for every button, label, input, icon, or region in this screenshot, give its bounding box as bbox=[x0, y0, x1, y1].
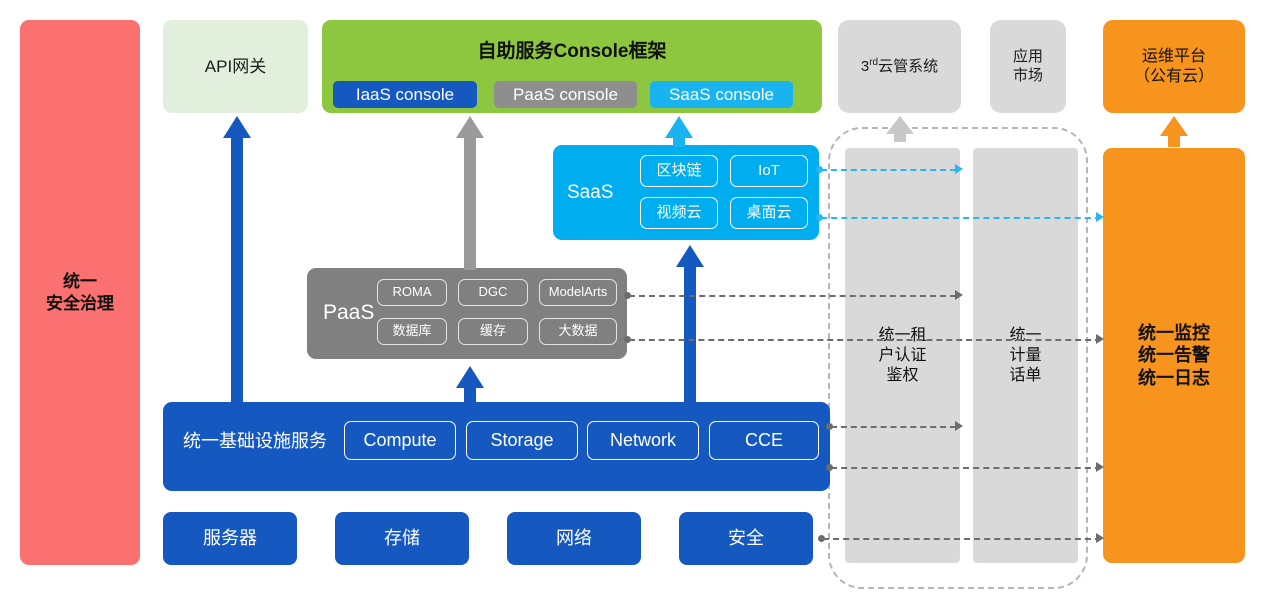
connector-paas-to-monitoring bbox=[629, 339, 1101, 341]
connector-hardware-to-monitoring bbox=[823, 538, 1101, 540]
app-market-box[interactable]: 应用 市场 bbox=[990, 20, 1066, 113]
connector-saas-to-auth bbox=[821, 169, 956, 171]
saas-item-iot-label: IoT bbox=[758, 162, 780, 181]
ops-platform-label: 运维平台 （公有云） bbox=[1134, 47, 1214, 87]
infra-item-network-label: Network bbox=[610, 429, 676, 452]
infra-item-storage[interactable]: Storage bbox=[466, 421, 578, 460]
iaas-console-label: IaaS console bbox=[356, 84, 454, 105]
hardware-network-label: 网络 bbox=[556, 527, 592, 550]
arrow-paas-to-console bbox=[455, 116, 485, 270]
arrow-shared-to-third-party bbox=[885, 116, 915, 142]
third-party-cloud-mgmt-label: 3rd云管系统 bbox=[861, 57, 938, 77]
hardware-server-box[interactable]: 服务器 bbox=[163, 512, 297, 565]
connector-infra-to-auth bbox=[831, 426, 956, 428]
infra-item-storage-label: Storage bbox=[490, 429, 553, 452]
iaas-console-chip[interactable]: IaaS console bbox=[333, 81, 477, 108]
saas-console-chip[interactable]: SaaS console bbox=[650, 81, 793, 108]
infra-item-compute[interactable]: Compute bbox=[344, 421, 456, 460]
unified-security-governance-panel[interactable]: 统一 安全治理 bbox=[20, 20, 140, 565]
paas-item-bigdata-label: 大数据 bbox=[558, 323, 597, 339]
connector-paas-to-auth bbox=[629, 295, 956, 297]
paas-item-dgc[interactable]: DGC bbox=[458, 279, 528, 306]
connector-infra-to-monitoring bbox=[831, 467, 1101, 469]
architecture-diagram: 统一 安全治理 API网关 自助服务Console框架 IaaS console… bbox=[0, 0, 1265, 605]
api-gateway-box[interactable]: API网关 bbox=[163, 20, 308, 113]
paas-item-database[interactable]: 数据库 bbox=[377, 318, 447, 345]
connector-arrowhead bbox=[1096, 212, 1104, 222]
console-frame-title: 自助服务Console框架 bbox=[322, 40, 822, 64]
paas-block[interactable]: PaaS ROMA DGC ModelArts 数据库 缓存 大数据 bbox=[307, 268, 627, 359]
third-party-cloud-mgmt-box[interactable]: 3rd云管系统 bbox=[838, 20, 961, 113]
connector-arrowhead bbox=[1096, 334, 1104, 344]
hardware-security-label: 安全 bbox=[728, 527, 764, 550]
infra-item-cce[interactable]: CCE bbox=[709, 421, 819, 460]
hardware-network-box[interactable]: 网络 bbox=[507, 512, 641, 565]
connector-arrowhead bbox=[955, 164, 963, 174]
paas-item-cache[interactable]: 缓存 bbox=[458, 318, 528, 345]
unified-tenant-auth-column[interactable]: 统一租 户认证 鉴权 bbox=[845, 148, 960, 563]
arrow-infra-to-saas bbox=[675, 245, 705, 404]
unified-monitoring-label: 统一监控 统一告警 统一日志 bbox=[1138, 322, 1210, 390]
unified-monitoring-column[interactable]: 统一监控 统一告警 统一日志 bbox=[1103, 148, 1245, 563]
saas-item-video-cloud[interactable]: 视频云 bbox=[640, 197, 718, 229]
connector-arrowhead bbox=[955, 421, 963, 431]
saas-item-iot[interactable]: IoT bbox=[730, 155, 808, 187]
paas-item-database-label: 数据库 bbox=[392, 323, 431, 339]
infra-item-network[interactable]: Network bbox=[587, 421, 699, 460]
saas-item-desktop-cloud[interactable]: 桌面云 bbox=[730, 197, 808, 229]
arrow-saas-to-saas-console bbox=[664, 116, 694, 147]
arrow-infra-to-paas bbox=[455, 366, 485, 404]
connector-arrowhead bbox=[1096, 462, 1104, 472]
saas-item-blockchain-label: 区块链 bbox=[656, 162, 701, 181]
paas-console-chip[interactable]: PaaS console bbox=[494, 81, 637, 108]
self-service-console-frame[interactable]: 自助服务Console框架 IaaS console PaaS console … bbox=[322, 20, 822, 113]
unified-metering-billing-label: 统一 计量 话单 bbox=[1009, 326, 1041, 386]
infra-item-compute-label: Compute bbox=[363, 429, 436, 452]
app-market-label: 应用 市场 bbox=[1013, 48, 1043, 86]
hardware-storage-label: 存储 bbox=[384, 527, 420, 550]
arrow-infra-to-api-gateway bbox=[222, 116, 252, 404]
unified-security-governance-label: 统一 安全治理 bbox=[46, 271, 114, 314]
saas-block[interactable]: SaaS 区块链 IoT 视频云 桌面云 bbox=[553, 145, 819, 240]
saas-item-desktop-cloud-label: 桌面云 bbox=[746, 204, 791, 223]
connector-saas-to-monitoring bbox=[821, 217, 1101, 219]
paas-item-modelarts[interactable]: ModelArts bbox=[539, 279, 617, 306]
paas-console-label: PaaS console bbox=[513, 84, 618, 105]
paas-item-bigdata[interactable]: 大数据 bbox=[539, 318, 617, 345]
paas-item-dgc-label: DGC bbox=[479, 284, 508, 300]
connector-arrowhead bbox=[955, 290, 963, 300]
paas-item-roma[interactable]: ROMA bbox=[377, 279, 447, 306]
api-gateway-label: API网关 bbox=[205, 56, 266, 77]
unified-metering-billing-column[interactable]: 统一 计量 话单 bbox=[973, 148, 1078, 563]
unified-infrastructure-service-bar[interactable]: 统一基础设施服务 Compute Storage Network CCE bbox=[163, 402, 830, 491]
connector-arrowhead bbox=[1096, 533, 1104, 543]
paas-block-label: PaaS bbox=[323, 300, 374, 326]
paas-item-cache-label: 缓存 bbox=[480, 323, 506, 339]
hardware-security-box[interactable]: 安全 bbox=[679, 512, 813, 565]
unified-tenant-auth-label: 统一租 户认证 鉴权 bbox=[878, 326, 926, 386]
paas-item-modelarts-label: ModelArts bbox=[549, 284, 608, 300]
hardware-server-label: 服务器 bbox=[203, 527, 257, 550]
saas-item-blockchain[interactable]: 区块链 bbox=[640, 155, 718, 187]
hardware-storage-box[interactable]: 存储 bbox=[335, 512, 469, 565]
paas-item-roma-label: ROMA bbox=[393, 284, 432, 300]
saas-item-video-cloud-label: 视频云 bbox=[656, 204, 701, 223]
unified-infrastructure-service-label: 统一基础设施服务 bbox=[183, 430, 327, 453]
ops-platform-box[interactable]: 运维平台 （公有云） bbox=[1103, 20, 1245, 113]
arrow-monitoring-to-ops-platform bbox=[1159, 116, 1189, 147]
saas-console-label: SaaS console bbox=[669, 84, 774, 105]
infra-item-cce-label: CCE bbox=[745, 429, 783, 452]
saas-block-label: SaaS bbox=[567, 181, 613, 205]
